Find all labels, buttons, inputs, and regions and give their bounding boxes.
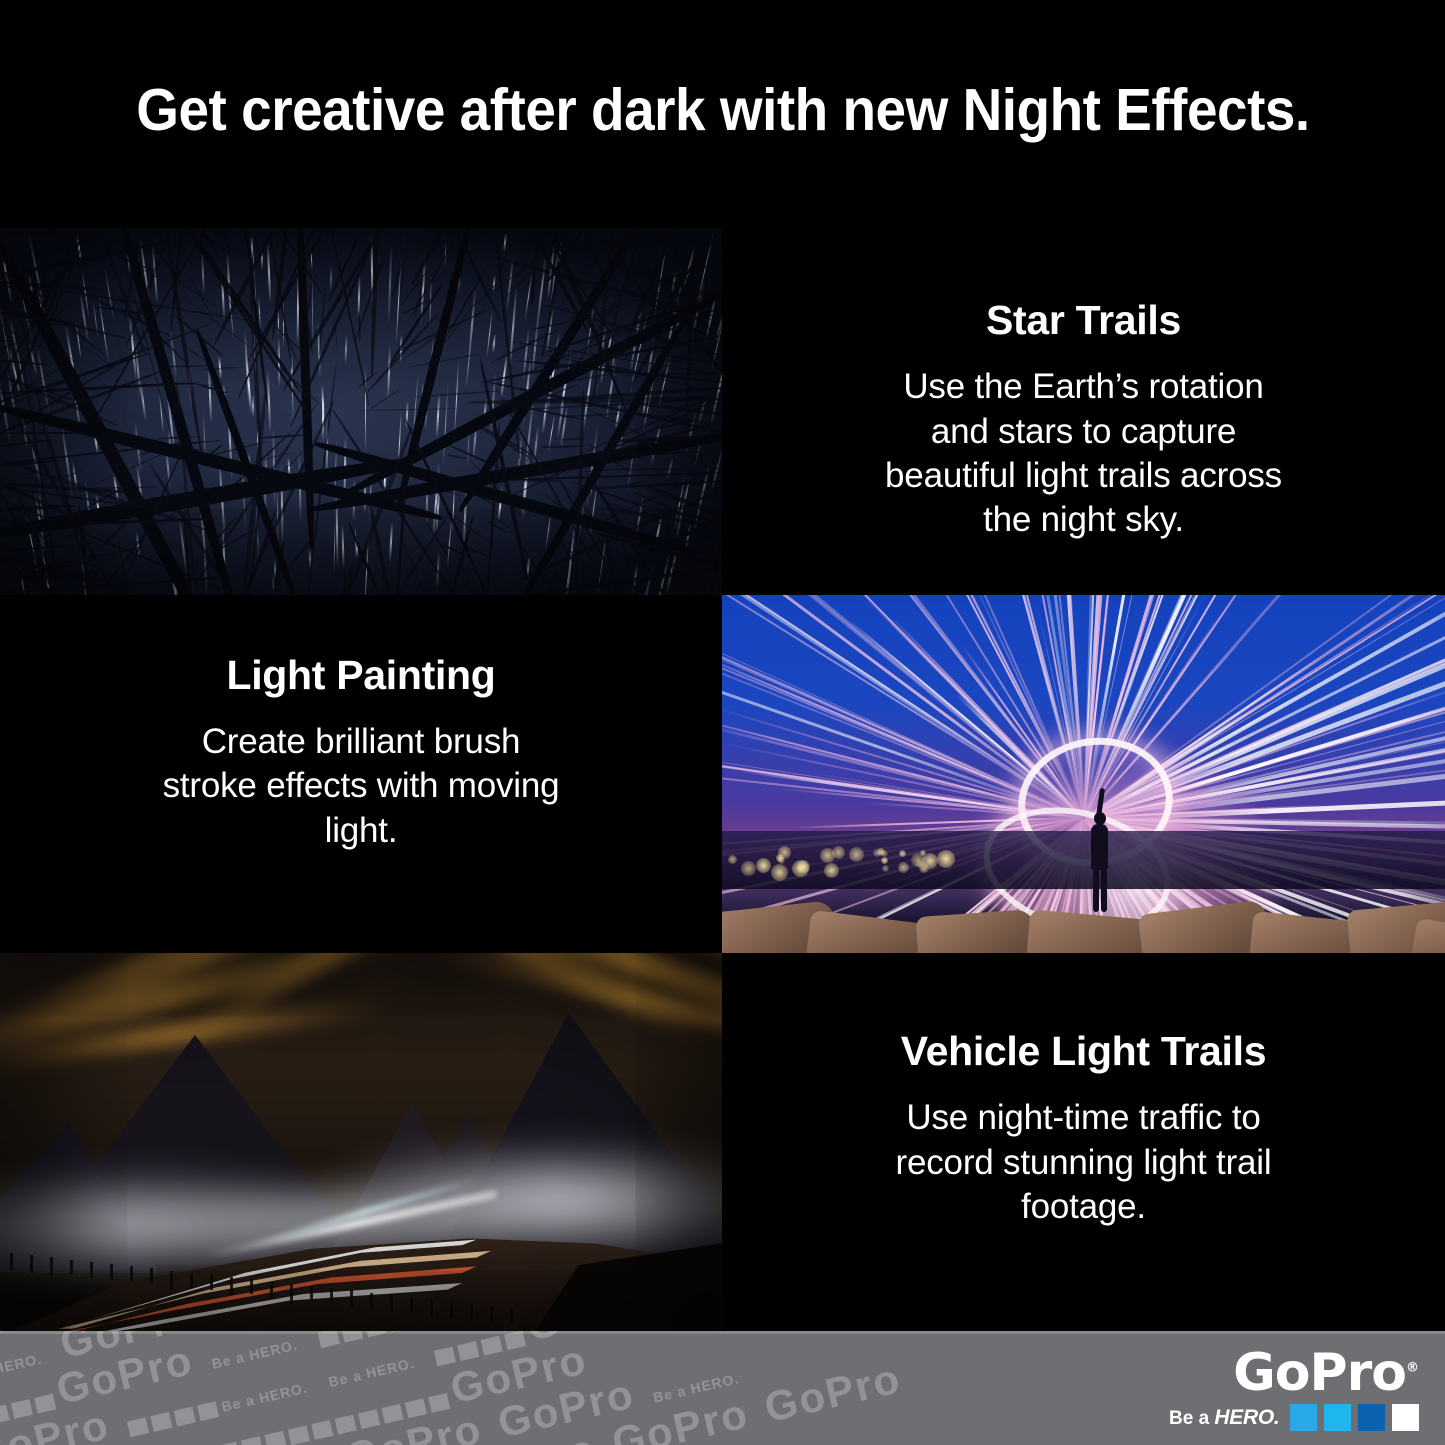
vehicle-light-trails-title: Vehicle Light Trails bbox=[901, 1029, 1266, 1074]
light-painting-title: Light Painting bbox=[226, 653, 495, 698]
gopro-watermark-pattern: GoProBe a HERO.GoProGoProBe a HERO.GoPro… bbox=[0, 1331, 953, 1445]
headline-banner: Get creative after dark with new Night E… bbox=[0, 0, 1445, 228]
registered-mark-icon: ® bbox=[1406, 1361, 1419, 1376]
vehicle-light-trails-image bbox=[0, 953, 722, 1331]
gopro-logo: GoPro® Be a HERO. bbox=[1169, 1349, 1419, 1431]
gopro-tagline: Be a HERO. bbox=[1169, 1406, 1279, 1430]
tagline-brand: HERO. bbox=[1214, 1406, 1279, 1429]
gopro-wordmark-text: GoPro bbox=[1233, 1343, 1406, 1403]
light-painting-body: Create brilliant brush stroke effects wi… bbox=[161, 720, 561, 853]
gopro-wordmark: GoPro® bbox=[1169, 1349, 1419, 1398]
feature-grid: Star Trails Use the Earth’s rotation and… bbox=[0, 228, 1445, 1331]
tagline-prefix: Be a bbox=[1169, 1408, 1214, 1429]
gopro-tagline-row: Be a HERO. bbox=[1169, 1404, 1419, 1431]
footer-bar: GoProBe a HERO.GoProGoProBe a HERO.GoPro… bbox=[0, 1331, 1445, 1445]
swatch-cyan bbox=[1324, 1404, 1351, 1431]
swatch-white bbox=[1392, 1404, 1419, 1431]
vehicle-light-trails-body: Use night-time traffic to record stunnin… bbox=[884, 1096, 1284, 1229]
light-painting-image bbox=[722, 595, 1445, 953]
page-title: Get creative after dark with new Night E… bbox=[118, 75, 1327, 153]
swatch-light-blue bbox=[1290, 1404, 1317, 1431]
star-trails-body: Use the Earth’s rotation and stars to ca… bbox=[874, 365, 1294, 543]
star-trails-image bbox=[0, 228, 722, 595]
swatch-dark-blue bbox=[1358, 1404, 1385, 1431]
star-trails-title: Star Trails bbox=[986, 298, 1181, 343]
star-trails-text-panel: Star Trails Use the Earth’s rotation and… bbox=[722, 228, 1445, 595]
light-painting-text-panel: Light Painting Create brilliant brush st… bbox=[0, 595, 722, 953]
vehicle-light-trails-text-panel: Vehicle Light Trails Use night-time traf… bbox=[722, 953, 1445, 1331]
